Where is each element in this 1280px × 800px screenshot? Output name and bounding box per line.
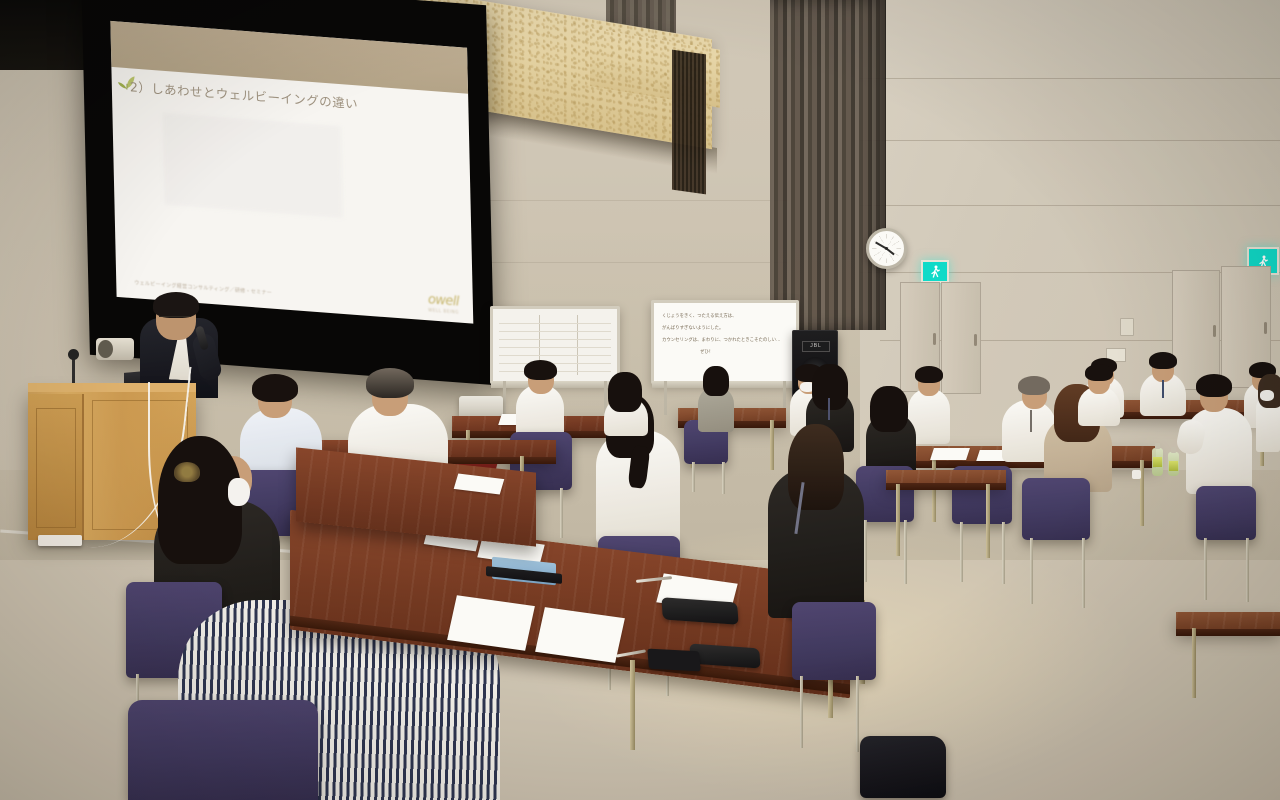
bottle-cap [1155,443,1160,449]
door-handle-icon[interactable] [974,334,977,346]
table-leg [770,420,774,470]
table-leg [1192,628,1196,698]
attendee-hair [915,366,943,383]
attendee-hair [1085,364,1113,381]
attendee-hair [608,372,642,412]
chair-leg [692,462,695,492]
lanyard [828,398,830,420]
presenter-hair [153,292,199,318]
conference-chair[interactable] [1196,486,1256,540]
chair-leg [1246,538,1249,602]
attendee-hair [524,360,557,380]
conference-chair[interactable] [792,602,876,680]
attendee-hair [812,364,848,410]
wall-clock [866,228,907,269]
slide-redacted-content [162,113,342,218]
conference-chair[interactable] [1022,478,1090,540]
whiteboard-note-line: がんばりすぎないようにした。 [662,325,788,333]
shoulder-bag [860,736,946,798]
slide-logo-subtext: WELL BEING [428,307,459,314]
power-strip [38,535,82,546]
light-switch-plate[interactable] [1120,318,1134,336]
wall-seam [860,78,1280,79]
window-curtain [770,0,886,330]
smartphone[interactable] [647,649,701,672]
face-mask [1260,390,1274,401]
pa-speaker-brand-label: JBL [802,341,830,352]
whiteboard-note-line: ぜひ！ [700,349,788,357]
chair-leg [1030,538,1033,604]
emergency-exit-sign [921,260,949,283]
seminar-room-photo: 2）しあわせとウェルビーイングの違い ウェルビーイング経営コンサルティング／研修… [0,0,1280,800]
whiteboard-note-line: くじょうをきく、つたえる伝え方は、 [662,313,788,321]
chair-leg [904,520,907,584]
table-leg [896,484,900,556]
face-mask [228,478,250,506]
attendee-hair [366,368,414,398]
attendee-hair [252,374,298,402]
chair-leg [856,676,859,752]
slide-footer-text: ウェルビーイング経営コンサルティング／研修・セミナー [134,279,272,296]
attendee-hair [1018,376,1050,395]
chair-leg [722,462,725,494]
table-leg [630,660,635,750]
door-handle-icon[interactable] [933,333,936,345]
tea-bottle [1152,448,1163,476]
wall-seam [860,205,1280,206]
wall-seam [490,200,790,201]
running-man-icon [931,265,940,278]
wall-seam [860,140,1280,141]
attendee-hair [1149,352,1177,369]
chair-leg [560,488,563,538]
paper-cup [1132,470,1141,479]
chair-leg [1204,538,1207,600]
lanyard [1030,410,1032,432]
attendee-hair [870,386,908,432]
hair-clip [174,462,200,482]
slide-surface: 2）しあわせとウェルビーイングの違い ウェルビーイング経営コンサルティング／研修… [110,21,473,324]
handout-paper [930,448,970,460]
bottle-cap [1171,447,1176,453]
clock-center-pin [885,247,888,250]
whiteboard-note-line: カウンセリングは、まわりに、つかれたときこそたのしい… [662,337,788,345]
chair-leg [864,520,867,582]
table-leg [986,484,990,558]
tea-bottle [1168,452,1179,476]
chair-leg [1002,522,1005,584]
slide-logo: owell WELL BEING [428,292,459,314]
door-handle-icon[interactable] [1213,325,1216,337]
presenter-glasses-icon [159,316,191,323]
conference-table [886,470,1006,484]
wall-seam [880,340,1280,341]
chair-leg [960,522,963,582]
attendee-hair [788,424,844,510]
attendee-hair [1196,374,1232,397]
conference-chair[interactable] [128,700,318,800]
video-projector [459,396,503,418]
chair-leg [800,676,803,748]
door-handle-icon[interactable] [1264,322,1267,334]
ceiling-vent-grille [672,50,706,195]
room-door[interactable] [941,282,981,394]
lanyard [1162,380,1164,398]
wall-seam [490,262,790,263]
chair-leg [1082,538,1085,608]
attendee-hair [703,366,729,396]
room-door[interactable] [1172,270,1220,390]
